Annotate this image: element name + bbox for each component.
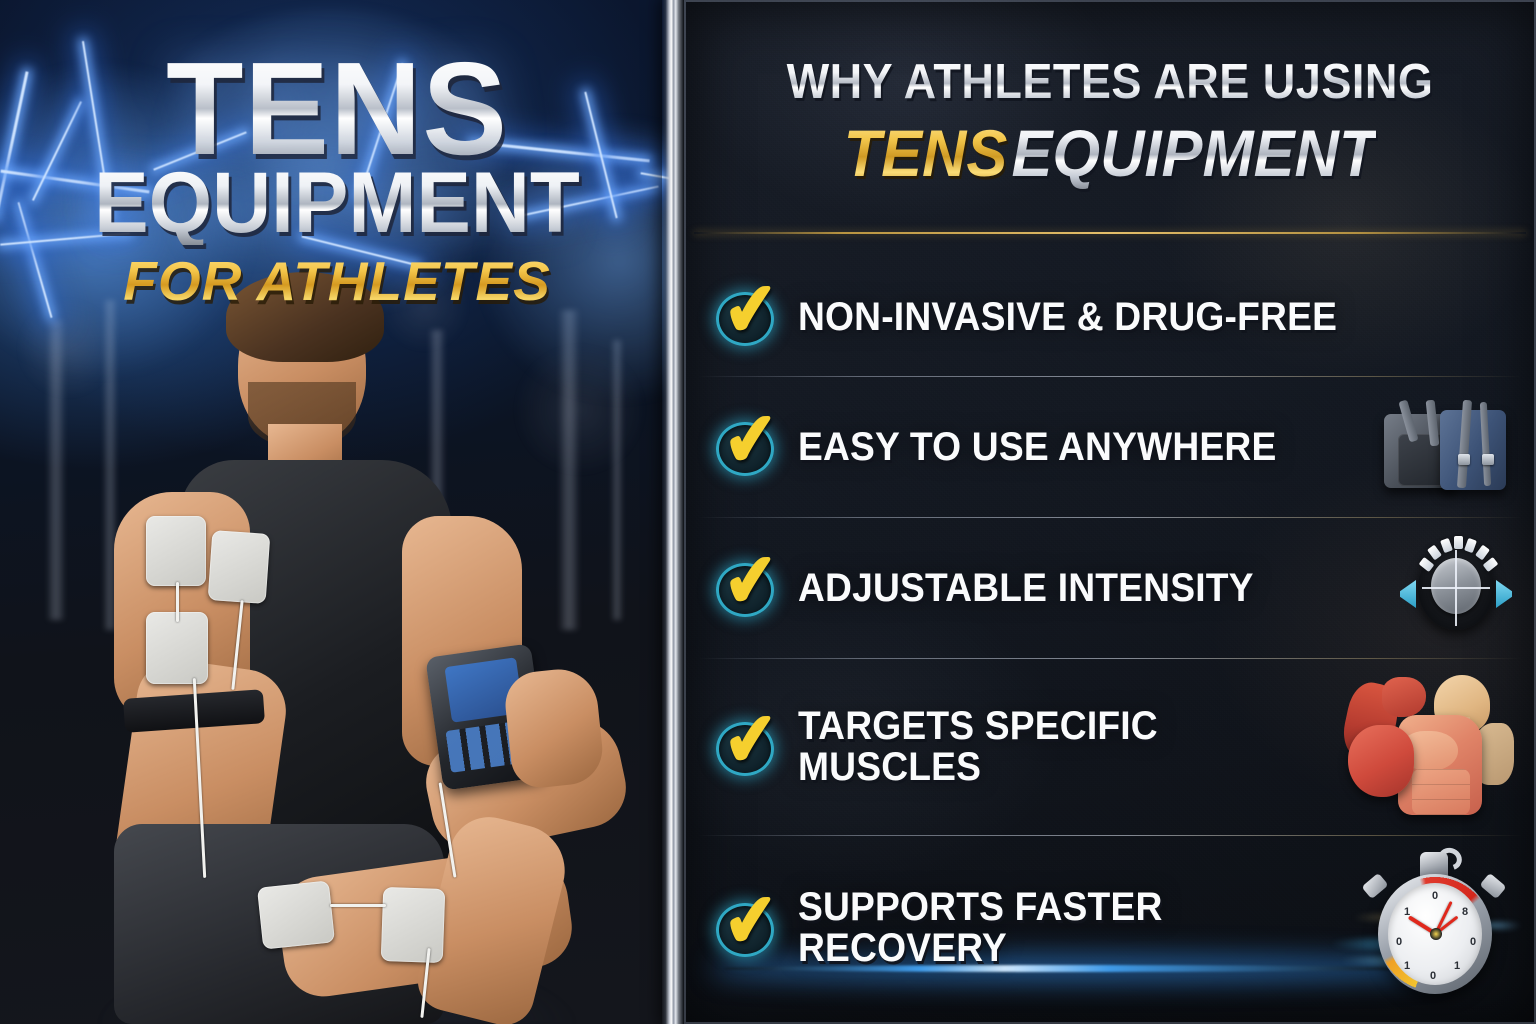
tens-equipment-infographic: TENS EQUIPMENT FOR ATHLETES WHY ATHLETES… — [0, 0, 1536, 1024]
check-glyph: ✔ — [716, 543, 785, 621]
headline-equipment: EQUIPMENT — [1011, 116, 1376, 190]
tens-pad — [208, 530, 271, 604]
feature-item-targets-muscles[interactable]: ✔ TARGETS SPECIFIC MUSCLES — [684, 659, 1536, 835]
tens-pad — [146, 612, 208, 684]
headline-line-1: WHY ATHLETES ARE UJSING — [718, 58, 1502, 107]
right-feature-panel: WHY ATHLETES ARE UJSING TENS EQUIPMENT ✔… — [684, 0, 1536, 1024]
title-for-athletes: FOR ATHLETES — [0, 249, 674, 313]
title-tens: TENS — [13, 48, 660, 169]
tens-pad — [257, 880, 335, 949]
feature-label: EASY TO USE ANYWHERE — [798, 427, 1341, 468]
check-glyph: ✔ — [716, 402, 785, 480]
feature-label: ADJUSTABLE INTENSITY — [798, 568, 1358, 609]
gold-checkmark-badge-icon: ✔ — [714, 286, 778, 348]
feature-label: TARGETS SPECIFIC MUSCLES — [798, 706, 1295, 788]
check-glyph: ✔ — [716, 702, 785, 780]
headline-line-2: TENS EQUIPMENT — [714, 115, 1506, 191]
hero-title-block: TENS EQUIPMENT FOR ATHLETES — [0, 48, 674, 313]
check-glyph: ✔ — [716, 272, 785, 350]
muscle-anatomy-icon — [1332, 673, 1512, 821]
tens-pad — [381, 887, 446, 963]
luggage-bags-icon — [1382, 400, 1512, 494]
feature-item-easy-to-use[interactable]: ✔ EASY TO USE ANYWHERE — [684, 377, 1536, 517]
feature-item-adjustable-intensity[interactable]: ✔ ADJUSTABLE INTENSITY — [684, 518, 1536, 658]
gold-checkmark-badge-icon: ✔ — [714, 557, 778, 619]
intensity-dial-icon — [1400, 536, 1512, 640]
left-hero-panel: TENS EQUIPMENT FOR ATHLETES — [0, 0, 674, 1024]
feature-label: NON-INVASIVE & DRUG-FREE — [798, 297, 1462, 338]
feature-item-faster-recovery[interactable]: ✔ SUPPORTS FASTER RECOVERY 0 8 — [684, 836, 1536, 1020]
stopwatch-icon: 0 8 0 1 0 1 0 1 — [1336, 850, 1512, 1006]
gold-checkmark-badge-icon: ✔ — [714, 416, 778, 478]
feature-item-non-invasive[interactable]: ✔ NON-INVASIVE & DRUG-FREE — [684, 258, 1536, 376]
headline-gold-rule — [694, 232, 1526, 234]
headline-block: WHY ATHLETES ARE UJSING TENS EQUIPMENT — [684, 58, 1536, 191]
tens-pad — [146, 516, 206, 586]
check-glyph: ✔ — [716, 883, 785, 961]
gold-checkmark-badge-icon: ✔ — [714, 716, 778, 778]
feature-list: ✔ NON-INVASIVE & DRUG-FREE ✔ EASY TO USE… — [684, 258, 1536, 1020]
gold-checkmark-badge-icon: ✔ — [714, 897, 778, 959]
headline-tens: TENS — [844, 116, 1008, 190]
feature-label: SUPPORTS FASTER RECOVERY — [798, 887, 1298, 969]
athlete-photo — [30, 264, 670, 1024]
title-equipment: EQUIPMENT — [17, 163, 657, 245]
